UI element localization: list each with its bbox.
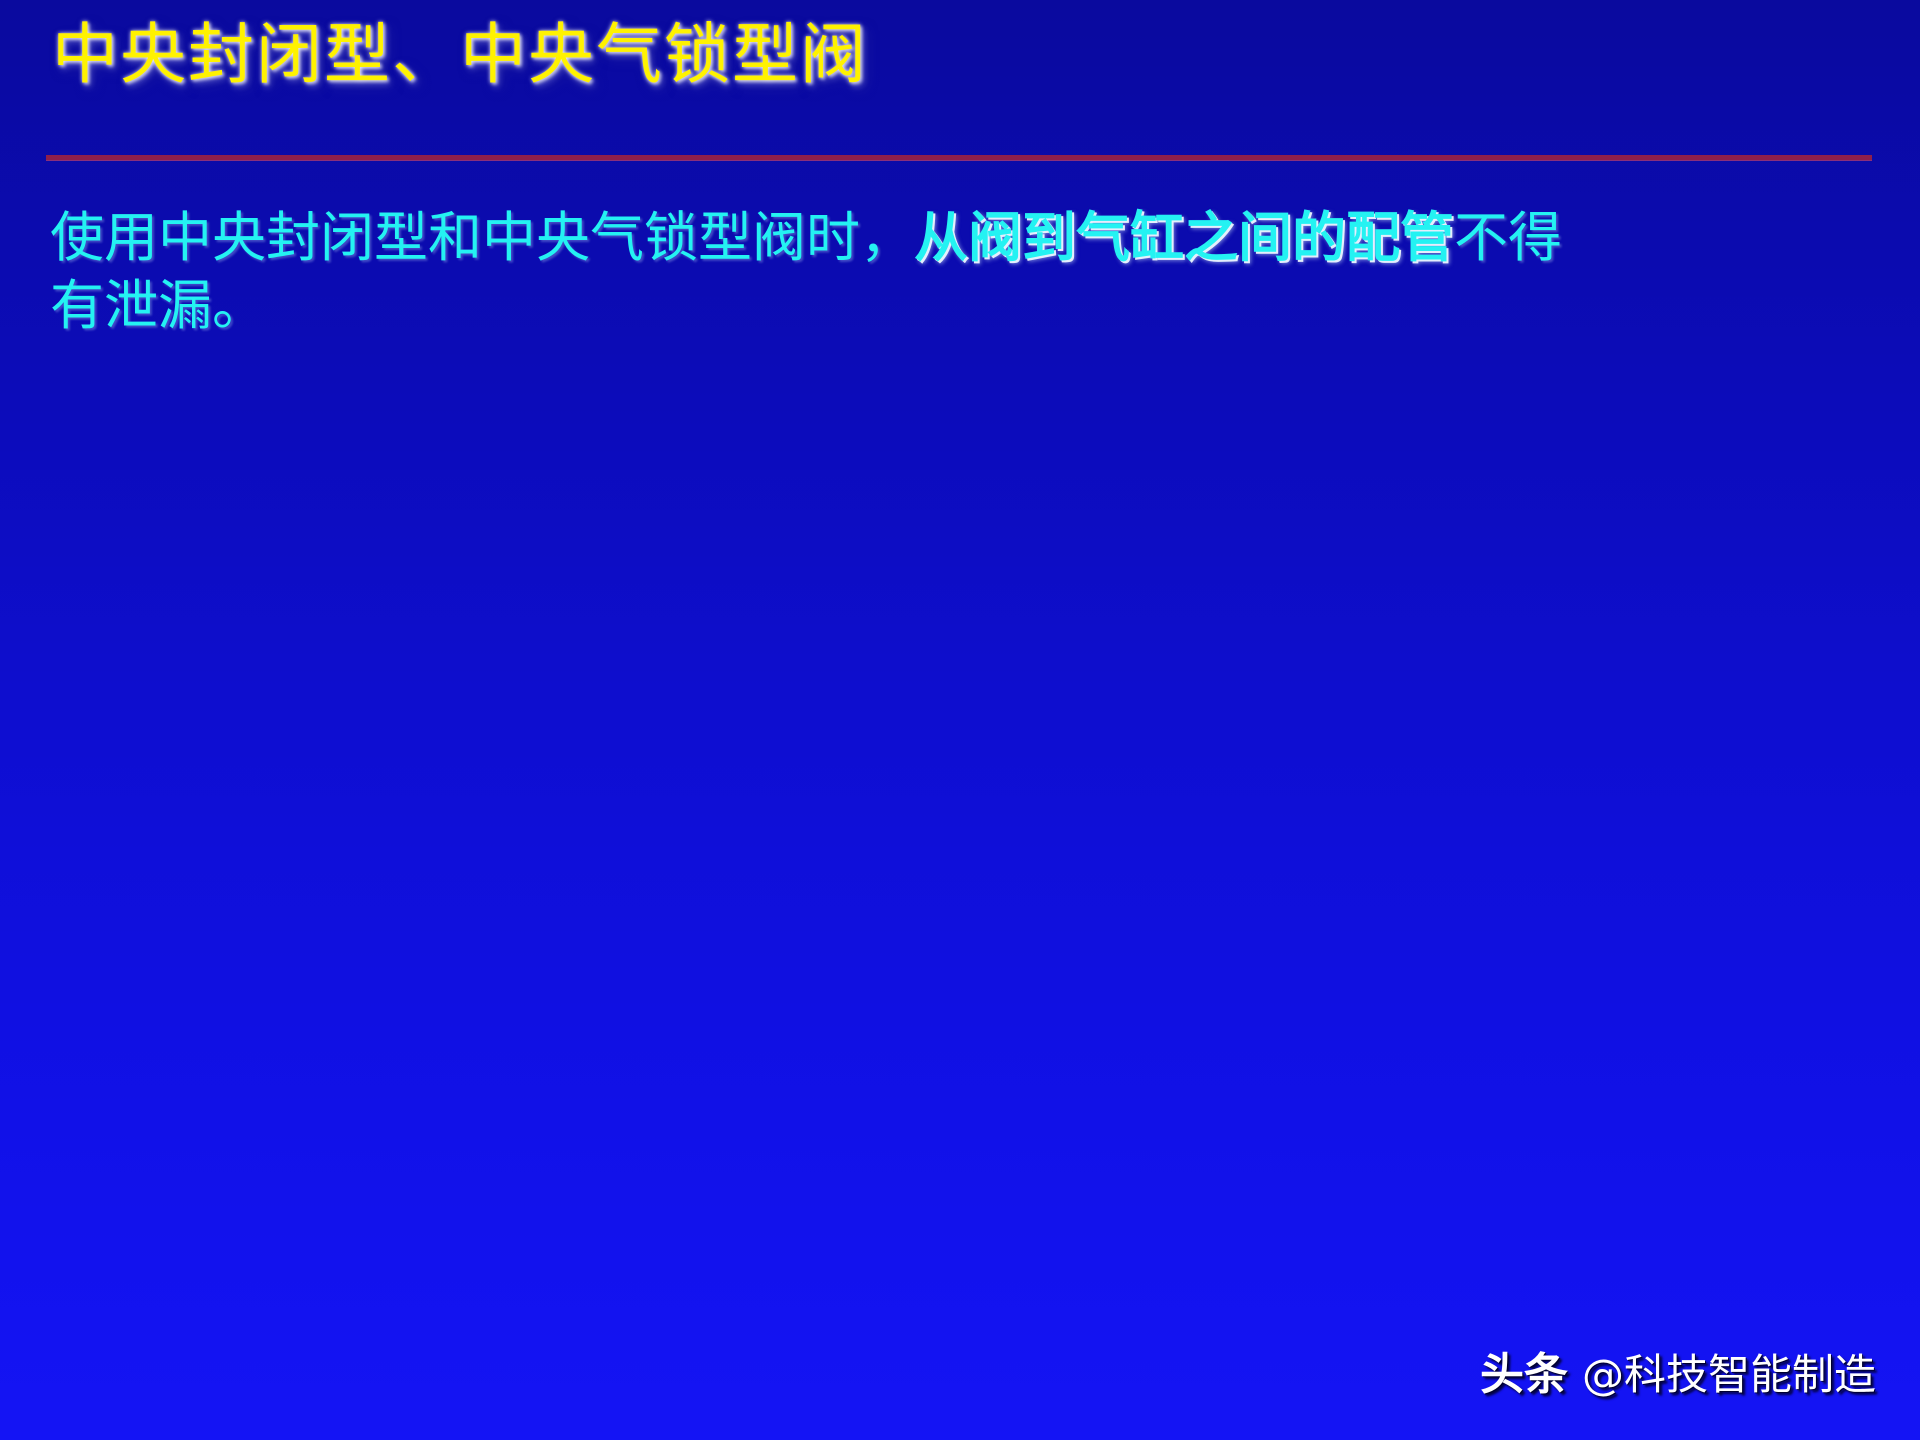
body-line-1-plain-start: 使用中央封闭型和中央气锁型阀时， — [50, 206, 914, 269]
body-line-2: 有泄漏。 — [50, 272, 1860, 340]
title-divider — [46, 155, 1872, 160]
slide-body: 使用中央封闭型和中央气锁型阀时，从阀到气缸之间的配管不得 有泄漏。 — [50, 204, 1860, 340]
page-title: 中央封闭型、中央气锁型阀 — [52, 22, 1882, 88]
body-line-1-emphasis: 从阀到气缸之间的配管 — [914, 206, 1454, 269]
slide-title-block: 中央封闭型、中央气锁型阀 — [52, 22, 1882, 132]
watermark-brand: 头条 — [1480, 1338, 1568, 1402]
body-line-1-plain-end: 不得 — [1454, 206, 1562, 269]
body-line-1: 使用中央封闭型和中央气锁型阀时，从阀到气缸之间的配管不得 — [50, 204, 1860, 272]
watermark: 头条 @科技智能制造 — [1480, 1338, 1876, 1402]
body-line-2-text: 有泄漏。 — [50, 274, 266, 337]
watermark-handle: @科技智能制造 — [1582, 1341, 1876, 1402]
presentation-slide: 中央封闭型、中央气锁型阀 使用中央封闭型和中央气锁型阀时，从阀到气缸之间的配管不… — [0, 0, 1920, 1440]
